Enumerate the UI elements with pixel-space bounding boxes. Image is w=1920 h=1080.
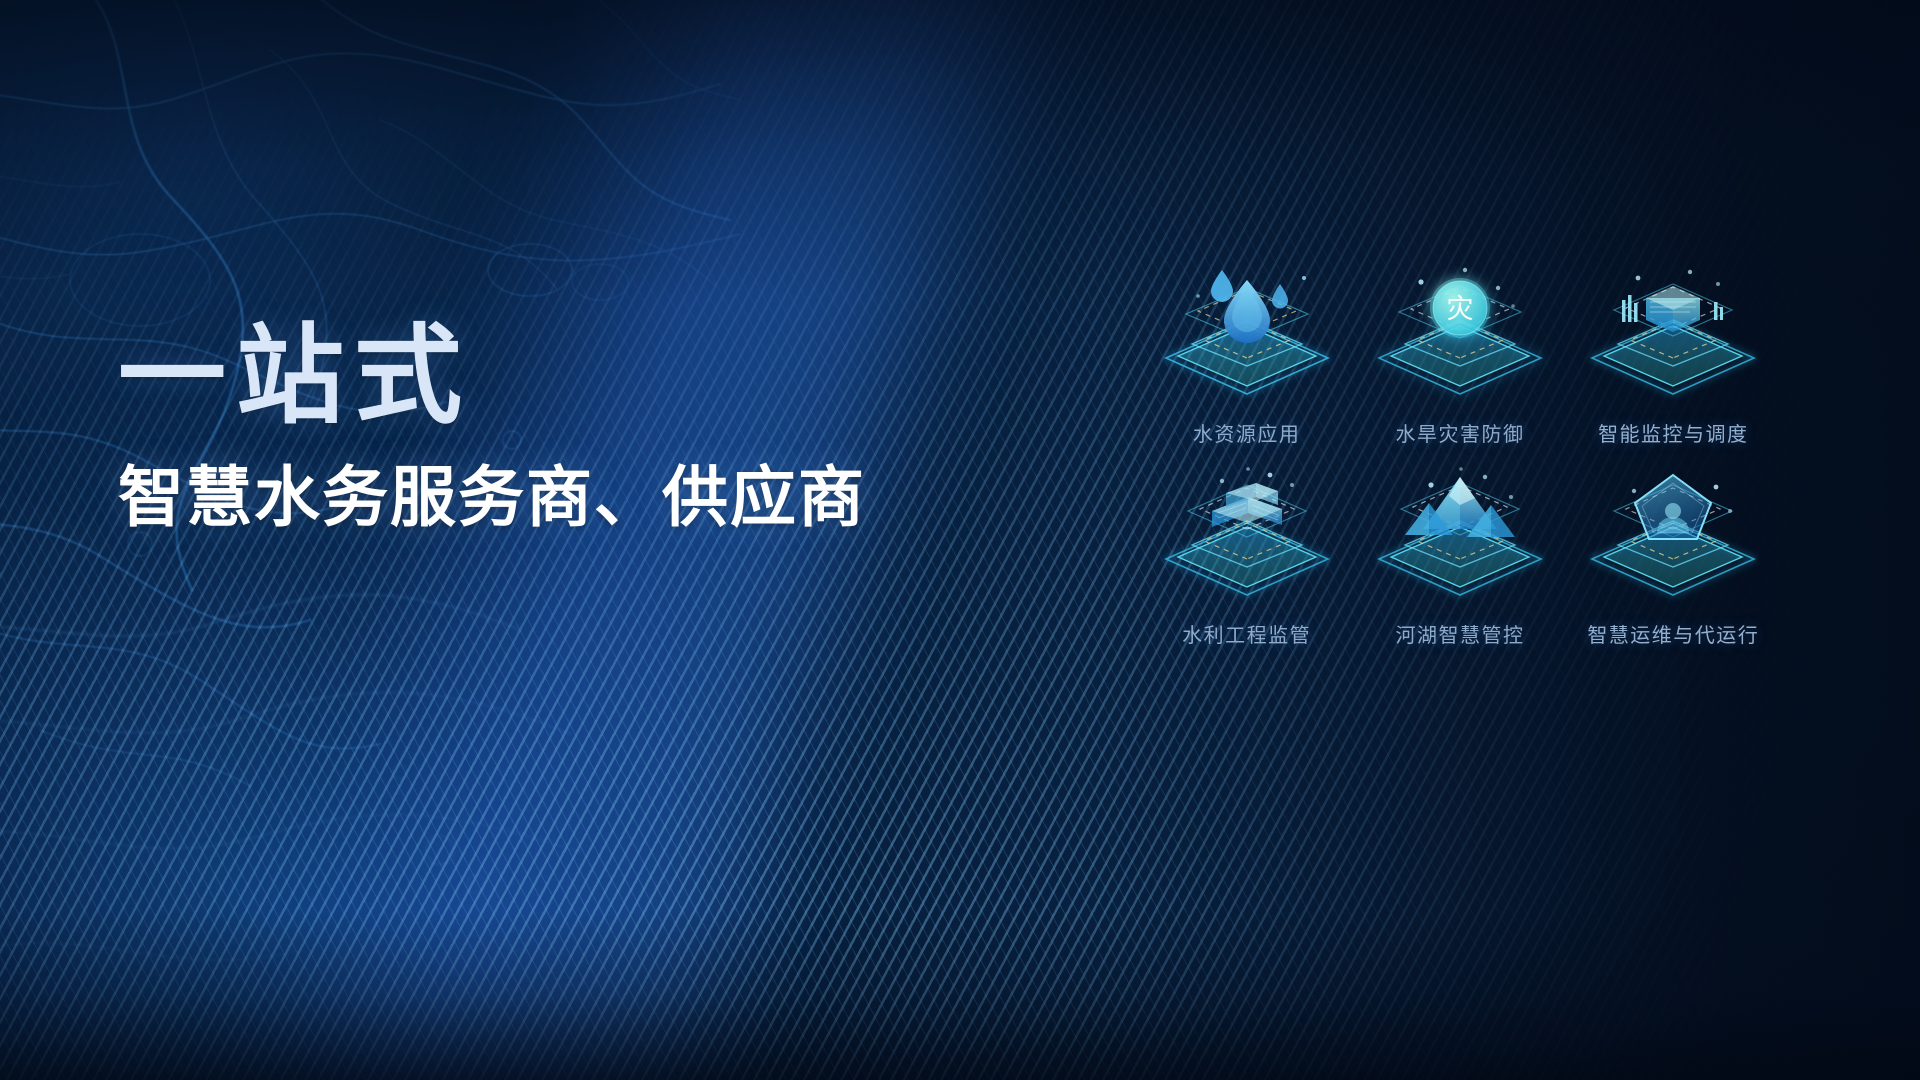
capability-grid: 水资源应用 xyxy=(1140,262,1780,648)
capability-label: 河湖智慧管控 xyxy=(1395,619,1524,648)
disaster-sphere-icon: 灾 xyxy=(1365,262,1555,412)
capability-label: 智能监控与调度 xyxy=(1598,418,1749,447)
headline-primary: 一站式 xyxy=(118,318,1118,435)
capability-item-water-resource-application[interactable]: 水资源应用 xyxy=(1140,262,1353,447)
headline-secondary: 智慧水务服务商、供应商 xyxy=(118,461,1118,535)
capability-label: 智慧运维与代运行 xyxy=(1587,619,1759,648)
dam-monitor-icon xyxy=(1578,262,1768,412)
headline-block: 一站式 智慧水务服务商、供应商 xyxy=(118,318,1118,535)
water-drop-icon xyxy=(1152,262,1342,412)
capability-item-flood-drought-defense[interactable]: 灾 水旱灾害防御 xyxy=(1353,262,1566,447)
capability-item-river-lake-smart-control[interactable]: 河湖智慧管控 xyxy=(1353,463,1566,648)
capability-label: 水资源应用 xyxy=(1193,418,1301,447)
slide-canvas: 一站式 智慧水务服务商、供应商 xyxy=(0,0,1920,1080)
shield-pentagon-icon xyxy=(1578,463,1768,613)
disaster-glyph: 灾 xyxy=(1446,294,1473,324)
mountain-river-icon xyxy=(1365,463,1555,613)
capability-item-smart-monitoring-dispatch[interactable]: 智能监控与调度 xyxy=(1567,262,1780,447)
capability-item-water-project-supervision[interactable]: 水利工程监管 xyxy=(1140,463,1353,648)
engineering-structure-icon xyxy=(1152,463,1342,613)
capability-label: 水旱灾害防御 xyxy=(1395,418,1524,447)
capability-item-smart-om-proxy-operation[interactable]: 智慧运维与代运行 xyxy=(1567,463,1780,648)
capability-label: 水利工程监管 xyxy=(1182,619,1311,648)
